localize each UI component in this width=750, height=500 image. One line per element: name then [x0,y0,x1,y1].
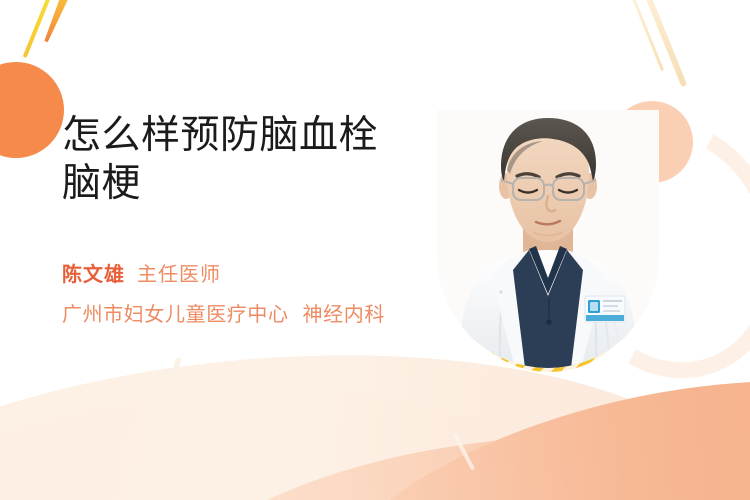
doctor-department: 神经内科 [303,302,385,326]
diagonal-stroke-bottom-center-icon [159,357,182,403]
doctor-name-row: 陈文雄主任医师 [62,259,442,289]
diagonal-stroke-bottom-right-icon [453,433,475,470]
wave-shape-peach-back [136,403,750,500]
doctor-affiliation-row: 广州市妇女儿童医疗中心 神经内科 [62,299,442,329]
text-content-block: 怎么样预防脑血栓 脑梗 陈文雄主任医师 广州市妇女儿童医疗中心 神经内科 [62,112,442,329]
doctor-professional-title: 主任医师 [137,262,221,286]
wave-shape-light [0,349,597,500]
page-title: 怎么样预防脑血栓 脑梗 [62,112,442,207]
title-line-2: 脑梗 [62,161,141,206]
doctor-portrait [437,110,659,368]
doctor-hospital: 广州市妇女儿童医疗中心 [62,302,289,326]
diagonal-stroke-topright-thin-icon [627,0,664,71]
portrait-illustration [437,110,659,368]
diagonal-stroke-orange-icon [42,0,72,44]
video-cover-card: 怎么样预防脑血栓 脑梗 陈文雄主任医师 广州市妇女儿童医疗中心 神经内科 [0,0,750,500]
doctor-name: 陈文雄 [62,262,125,286]
orange-circle-decoration [0,62,64,158]
hospital-id-badge [585,296,625,322]
portrait-clip-mask [437,110,659,368]
title-line-1: 怎么样预防脑血栓 [62,113,378,158]
diagonal-stroke-yellow-icon [23,0,54,58]
doctor-meta: 陈文雄主任医师 广州市妇女儿童医疗中心 神经内科 [62,259,442,329]
diagonal-stroke-topright-thick-icon [643,0,688,87]
